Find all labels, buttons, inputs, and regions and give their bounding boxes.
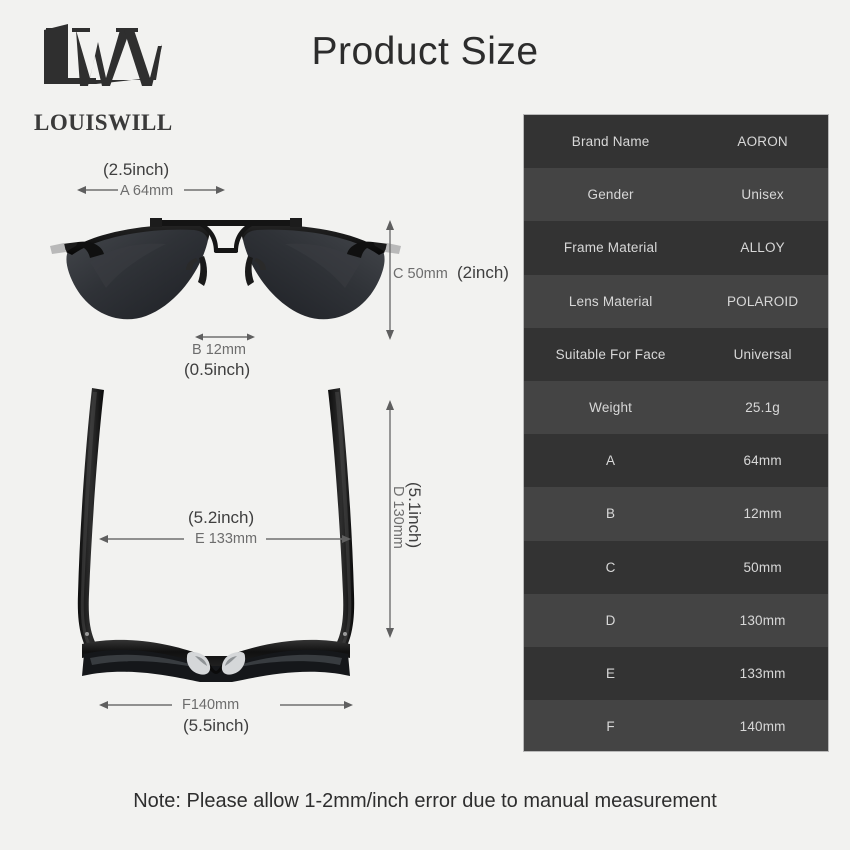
spec-key: Gender xyxy=(524,187,697,202)
spec-key: Frame Material xyxy=(524,240,697,255)
dimension-c-metric: C 50mm xyxy=(393,266,448,282)
table-row: E133mm xyxy=(524,647,828,700)
dimension-a-imperial: (2.5inch) xyxy=(103,160,169,180)
table-row: Suitable For FaceUniversal xyxy=(524,328,828,381)
spec-key: B xyxy=(524,506,697,521)
spec-key: C xyxy=(524,560,697,575)
table-row: GenderUnisex xyxy=(524,168,828,221)
table-row: B12mm xyxy=(524,487,828,540)
table-row: C50mm xyxy=(524,541,828,594)
table-row: Weight25.1g xyxy=(524,381,828,434)
spec-key: Weight xyxy=(524,400,697,415)
dimension-f-imperial: (5.5inch) xyxy=(183,716,249,736)
spec-key: A xyxy=(524,453,697,468)
spec-key: D xyxy=(524,613,697,628)
spec-value: 12mm xyxy=(697,506,828,521)
spec-value: 50mm xyxy=(697,560,828,575)
specification-table: Brand NameAORONGenderUnisexFrame Materia… xyxy=(523,114,829,752)
dimension-c-imperial: (2inch) xyxy=(457,263,509,283)
dimension-a-arrow-icon xyxy=(76,182,226,198)
spec-value: AORON xyxy=(697,134,828,149)
table-row: Frame MaterialALLOY xyxy=(524,221,828,274)
spec-key: F xyxy=(524,719,697,734)
dimension-d-metric: D 130mm xyxy=(390,486,406,549)
table-row: A64mm xyxy=(524,434,828,487)
spec-key: Suitable For Face xyxy=(524,347,697,362)
spec-key: E xyxy=(524,666,697,681)
table-row: F140mm xyxy=(524,700,828,752)
spec-value: ALLOY xyxy=(697,240,828,255)
spec-key: Brand Name xyxy=(524,134,697,149)
dimension-b-imperial: (0.5inch) xyxy=(184,360,250,380)
dimension-e-imperial: (5.2inch) xyxy=(188,508,254,528)
table-row: Lens MaterialPOLAROID xyxy=(524,275,828,328)
table-row: D130mm xyxy=(524,594,828,647)
measurement-note: Note: Please allow 1-2mm/inch error due … xyxy=(0,790,850,813)
dimension-d-imperial: (5.1inch) xyxy=(404,482,424,548)
spec-value: 140mm xyxy=(697,719,828,734)
dimension-b-metric: B 12mm xyxy=(192,342,246,358)
spec-value: 64mm xyxy=(697,453,828,468)
page-title: Product Size xyxy=(0,30,850,74)
spec-value: 130mm xyxy=(697,613,828,628)
table-row: Brand NameAORON xyxy=(524,115,828,168)
spec-key: Lens Material xyxy=(524,294,697,309)
spec-value: 25.1g xyxy=(697,400,828,415)
infographic-canvas: LOUISWILL Product Size xyxy=(0,0,850,850)
spec-value: Unisex xyxy=(697,187,828,202)
spec-value: Universal xyxy=(697,347,828,362)
dimension-e-arrow-icon xyxy=(98,531,352,547)
spec-value: 133mm xyxy=(697,666,828,681)
dimension-f-arrow-icon xyxy=(98,697,354,713)
brand-wordmark: LOUISWILL xyxy=(34,110,173,136)
spec-value: POLAROID xyxy=(697,294,828,309)
sunglasses-front-view-image xyxy=(38,196,413,346)
